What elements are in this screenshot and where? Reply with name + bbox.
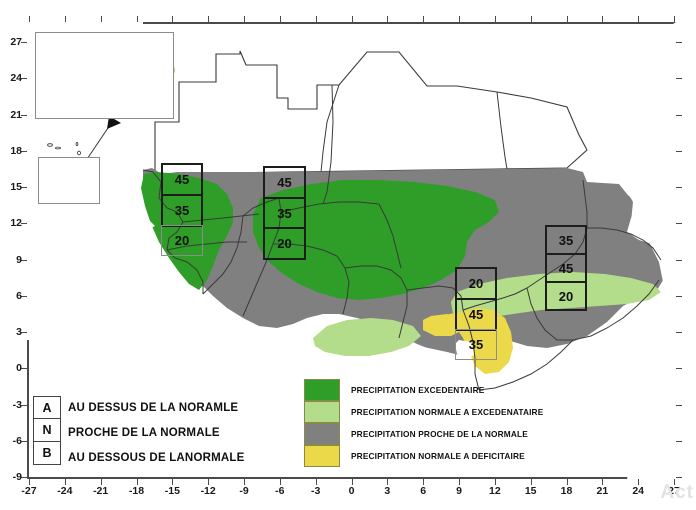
color-legend: PRECIPITATION EXCEDENTAIRE PRECIPITATION… — [304, 379, 543, 467]
y-tick-right — [676, 441, 682, 442]
prob-near-normal: 45 — [455, 298, 497, 331]
prob-below-normal: 20 — [545, 281, 587, 311]
y-tick-label: 3 — [0, 326, 22, 338]
watermark: Act — [660, 482, 694, 504]
x-tick-top — [208, 16, 209, 22]
y-tick-right — [676, 260, 682, 261]
anb-label-a: AU DESSUS DE LA NORAMLE — [68, 402, 238, 414]
anb-label-b: AU DESSOUS DE LANORMALE — [68, 452, 244, 464]
x-tick-label: 0 — [332, 485, 372, 497]
x-tick-label: -12 — [188, 485, 228, 497]
x-tick-label: -15 — [152, 485, 192, 497]
x-tick-top — [172, 16, 173, 22]
prob-below-normal: 20 — [161, 225, 203, 256]
x-tick-top — [459, 16, 460, 22]
x-tick-label: -18 — [117, 485, 157, 497]
y-tick-label: 0 — [0, 362, 22, 374]
anb-legend: A N B — [33, 396, 61, 465]
forecast-box-nigeria[interactable]: 20 45 35 — [455, 267, 497, 360]
x-tick-label: -21 — [81, 485, 121, 497]
prob-below-normal: 35 — [455, 329, 497, 360]
y-tick-label: 9 — [0, 254, 22, 266]
prob-above-normal: 45 — [161, 163, 203, 196]
forecast-box-east[interactable]: 35 45 20 — [545, 225, 587, 311]
y-tick-right — [676, 115, 682, 116]
x-tick-top — [29, 16, 30, 22]
x-tick-label: -6 — [260, 485, 300, 497]
x-tick-top — [602, 16, 603, 22]
y-tick-right — [676, 78, 682, 79]
y-tick-label: -6 — [0, 435, 22, 447]
x-tick-label: 9 — [439, 485, 479, 497]
x-tick-top — [674, 16, 675, 22]
x-tick-label: -3 — [296, 485, 336, 497]
x-tick-label: -24 — [45, 485, 85, 497]
x-tick-label: 21 — [582, 485, 622, 497]
legend-label-deficitaire: PRECIPITATION NORMALE A DEFICITAIRE — [351, 451, 525, 461]
prob-near-normal: 45 — [545, 253, 587, 283]
x-tick-label: 18 — [547, 485, 587, 497]
legend-swatch-normale-excedentaire — [304, 401, 340, 423]
prob-near-normal: 35 — [161, 194, 203, 227]
y-tick-right — [676, 151, 682, 152]
y-tick-right — [676, 332, 682, 333]
legend-item-normale-excedentaire: PRECIPITATION NORMALE A EXCEDENATAIRE — [304, 401, 543, 423]
y-tick-label: 18 — [0, 145, 22, 157]
legend-label-normale-excedentaire: PRECIPITATION NORMALE A EXCEDENATAIRE — [351, 407, 543, 417]
x-tick-top — [65, 16, 66, 22]
prob-above-normal: 20 — [455, 267, 497, 300]
legend-item-deficitaire: PRECIPITATION NORMALE A DEFICITAIRE — [304, 445, 543, 467]
y-tick-label: 24 — [0, 72, 22, 84]
x-tick-top — [244, 16, 245, 22]
legend-swatch-deficitaire — [304, 445, 340, 467]
x-tick-top — [101, 16, 102, 22]
precipitation-forecast-map: 45 35 20 45 35 20 20 45 35 35 45 20 A N … — [0, 0, 696, 510]
y-tick-label: 12 — [0, 217, 22, 229]
prob-above-normal: 45 — [263, 166, 306, 199]
prob-below-normal: 20 — [263, 227, 306, 260]
y-tick-label: 15 — [0, 181, 22, 193]
x-tick-label: 12 — [475, 485, 515, 497]
prob-near-normal: 35 — [263, 197, 306, 230]
y-tick-right — [676, 477, 682, 478]
north-countries-outline — [155, 51, 587, 174]
anb-code-a: A — [33, 396, 61, 420]
x-tick-top — [495, 16, 496, 22]
x-tick-top — [638, 16, 639, 22]
anb-code-b: B — [33, 441, 61, 465]
x-tick-label: -27 — [9, 485, 49, 497]
y-tick-label: -9 — [0, 471, 22, 483]
cape-verde-locator-inset — [38, 157, 100, 204]
legend-item-proche-normale: PRECIPITATION PROCHE DE LA NORMALE — [304, 423, 543, 445]
legend-item-excedentaire: PRECIPITATION EXCEDENTAIRE — [304, 379, 543, 401]
anb-code-n: N — [33, 418, 61, 442]
x-tick-label: 15 — [511, 485, 551, 497]
x-tick-top — [387, 16, 388, 22]
legend-label-proche-normale: PRECIPITATION PROCHE DE LA NORMALE — [351, 429, 528, 439]
y-tick-right — [676, 405, 682, 406]
x-tick-label: 3 — [367, 485, 407, 497]
forecast-box-west[interactable]: 45 35 20 — [161, 163, 203, 256]
y-tick-label: 6 — [0, 290, 22, 302]
x-tick-top — [316, 16, 317, 22]
cape-verde-zoom-inset — [35, 32, 174, 119]
legend-swatch-excedentaire — [304, 379, 340, 401]
legend-label-excedentaire: PRECIPITATION EXCEDENTAIRE — [351, 385, 484, 395]
x-tick-top — [280, 16, 281, 22]
y-tick-right — [676, 223, 682, 224]
y-tick-label: -3 — [0, 399, 22, 411]
anb-label-n: PROCHE DE LA NORMALE — [68, 427, 220, 439]
prob-above-normal: 35 — [545, 225, 587, 255]
forecast-box-central[interactable]: 45 35 20 — [263, 166, 306, 260]
legend-swatch-proche-normale — [304, 423, 340, 445]
x-tick-label: 24 — [618, 485, 658, 497]
y-tick-label: 21 — [0, 109, 22, 121]
x-tick-top — [137, 16, 138, 22]
x-tick-top — [352, 16, 353, 22]
x-tick-top — [531, 16, 532, 22]
y-tick-right — [676, 187, 682, 188]
y-tick-right — [676, 296, 682, 297]
x-tick-top — [423, 16, 424, 22]
x-tick-label: 6 — [403, 485, 443, 497]
x-tick-top — [567, 16, 568, 22]
y-tick-label: 27 — [0, 36, 22, 48]
y-tick-right — [676, 368, 682, 369]
x-tick-label: -9 — [224, 485, 264, 497]
y-tick-right — [676, 42, 682, 43]
